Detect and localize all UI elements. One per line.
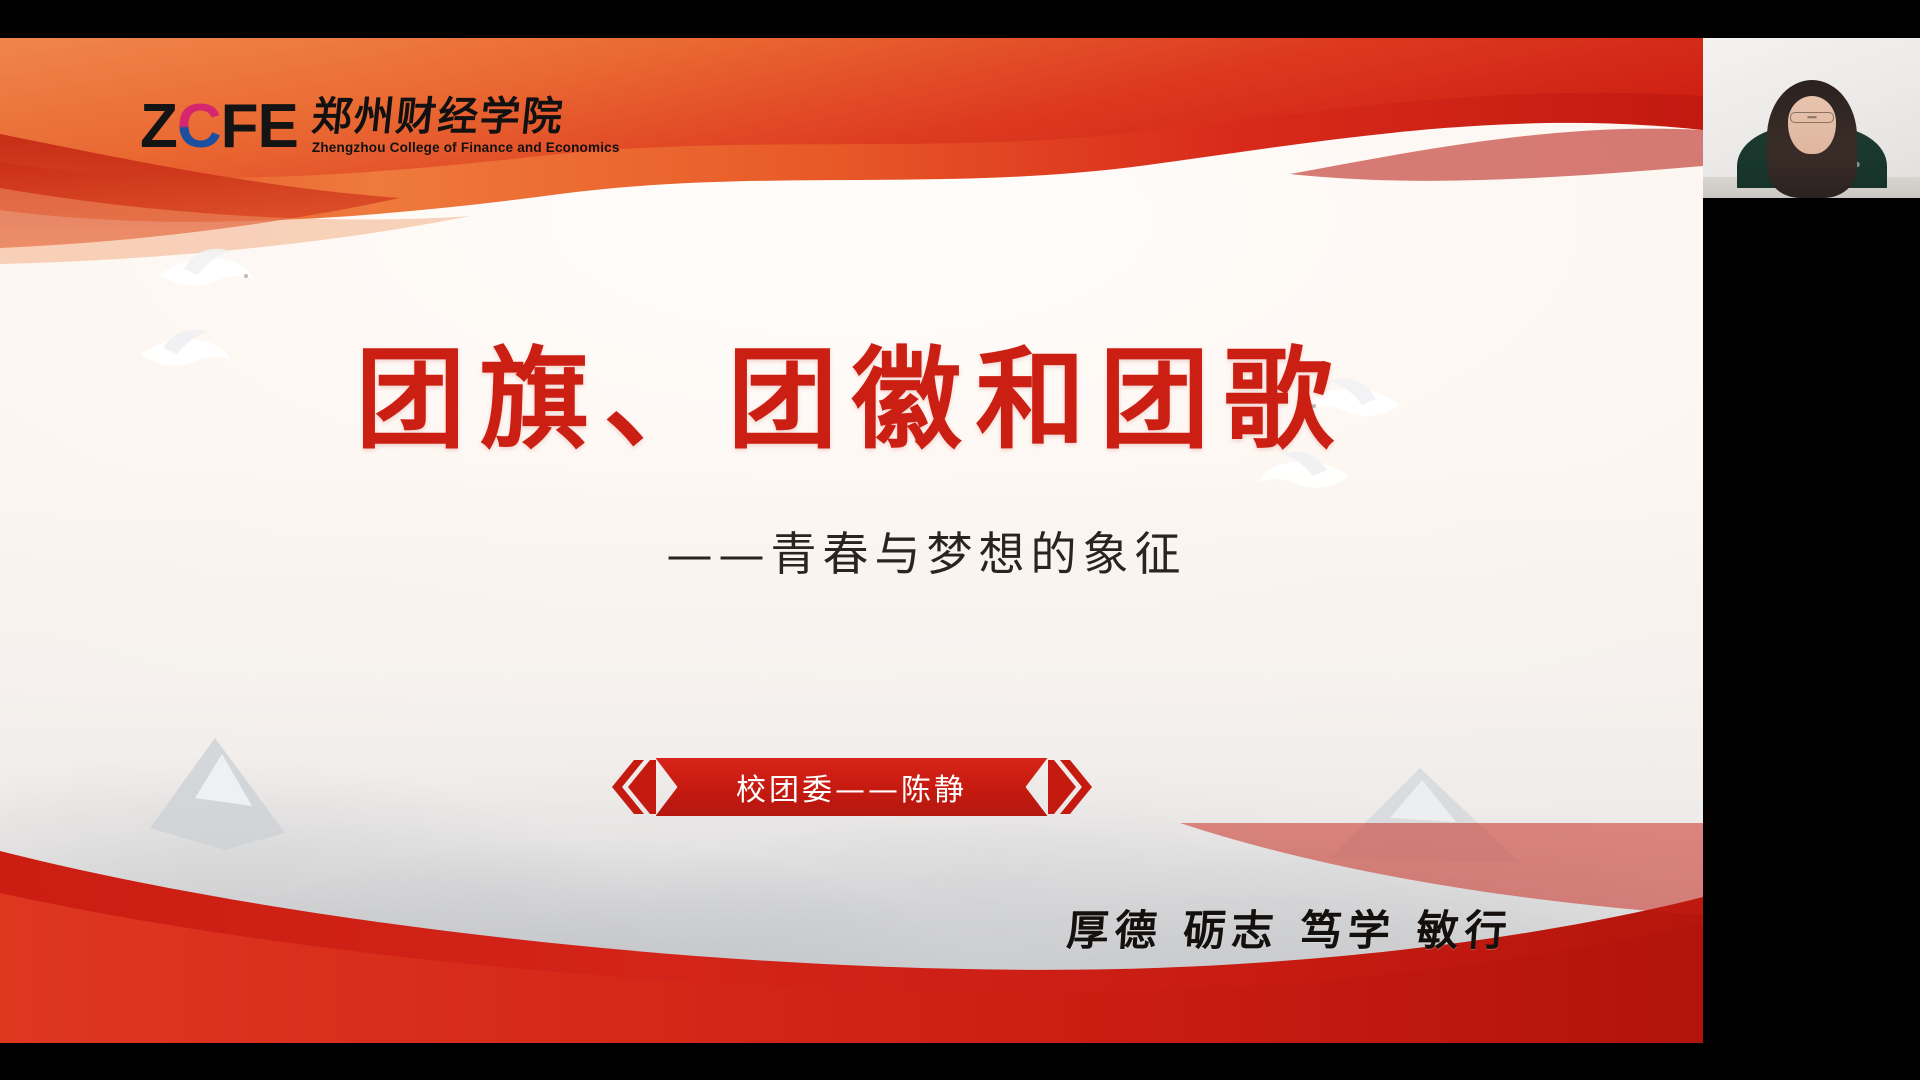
logo-letter-c: C (177, 96, 221, 158)
letterbox-top (0, 0, 1920, 38)
speaker-name-bar: 校团委——陈静 (656, 758, 1048, 816)
screen-capture: ZCFE 郑州财经学院 Zhengzhou College of Finance… (0, 0, 1920, 1080)
speaker-name: 校团委——陈静 (736, 765, 967, 809)
university-logo: ZCFE 郑州财经学院 Zhengzhou College of Finance… (140, 96, 620, 158)
presenter-glasses (1790, 112, 1834, 123)
presenter-video-feed[interactable] (1703, 38, 1920, 198)
presenter-face (1788, 96, 1836, 154)
slide-subtitle: ——青春与梦想的象征 (0, 518, 1703, 584)
logo-mark-zcfe: ZCFE (140, 96, 298, 158)
logo-english-name: Zhengzhou College of Finance and Economi… (312, 140, 620, 155)
logo-chinese-name: 郑州财经学院 (310, 96, 622, 138)
university-motto: 厚德 砺志 笃学 敏行 (1065, 897, 1515, 958)
presentation-slide: ZCFE 郑州财经学院 Zhengzhou College of Finance… (0, 38, 1703, 1043)
letterbox-right (1703, 198, 1920, 1043)
logo-letter-z: Z (140, 96, 177, 158)
slide-title: 团旗、团徽和团歌 (0, 338, 1703, 461)
chevron-right-icon (1048, 758, 1100, 816)
logo-letters-fe: FE (221, 96, 298, 158)
logo-text-block: 郑州财经学院 Zhengzhou College of Finance and … (312, 96, 620, 158)
letterbox-bottom (0, 1043, 1920, 1080)
chevron-left-icon (604, 758, 656, 816)
speaker-banner: 校团委——陈静 (604, 758, 1100, 816)
